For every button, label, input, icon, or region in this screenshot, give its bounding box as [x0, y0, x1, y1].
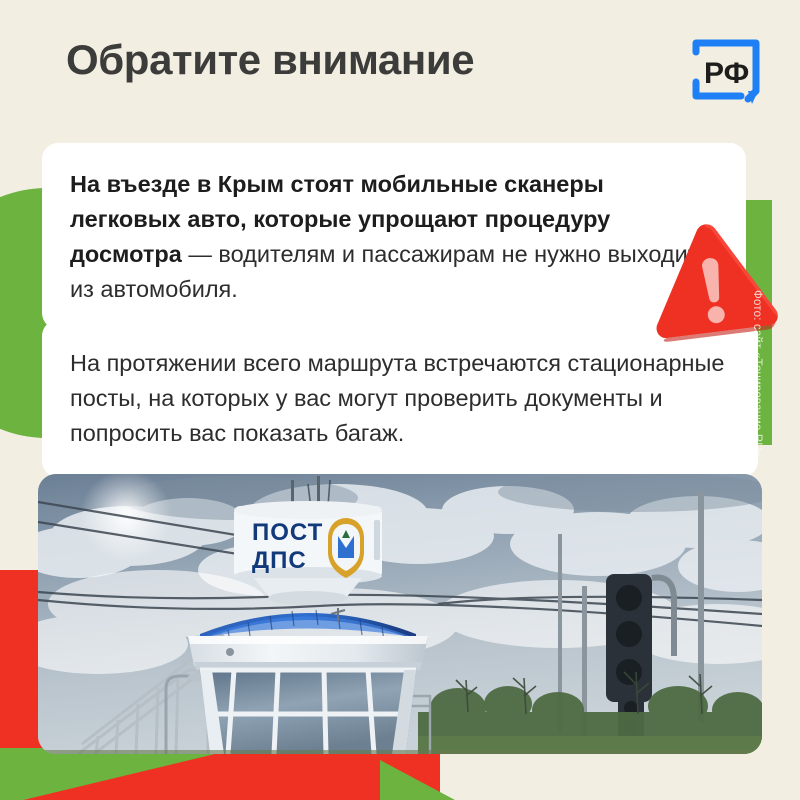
page-title: Обратите внимание — [66, 36, 474, 84]
dps-post-photo: ПОСТ ДПС — [38, 474, 762, 754]
card-scanners-text: На въезде в Крым стоят мобильные сканеры… — [70, 167, 716, 307]
svg-text:ДПС: ДПС — [252, 547, 307, 574]
svg-text:РФ: РФ — [704, 57, 749, 90]
infographic-poster: Обратите внимание РФ На въезде в Крым ст… — [0, 0, 800, 800]
svg-text:ПОСТ: ПОСТ — [252, 519, 323, 546]
card-checkpoints-text: На протяжении всего маршрута встречаются… — [70, 346, 728, 451]
poster-header: Обратите внимание РФ — [0, 0, 800, 130]
rf-speech-bubble-logo: РФ — [686, 34, 766, 112]
photo-credit: Фото: сайт «Тонирование.RU» — [751, 290, 763, 540]
warning-triangle-icon — [637, 210, 787, 350]
